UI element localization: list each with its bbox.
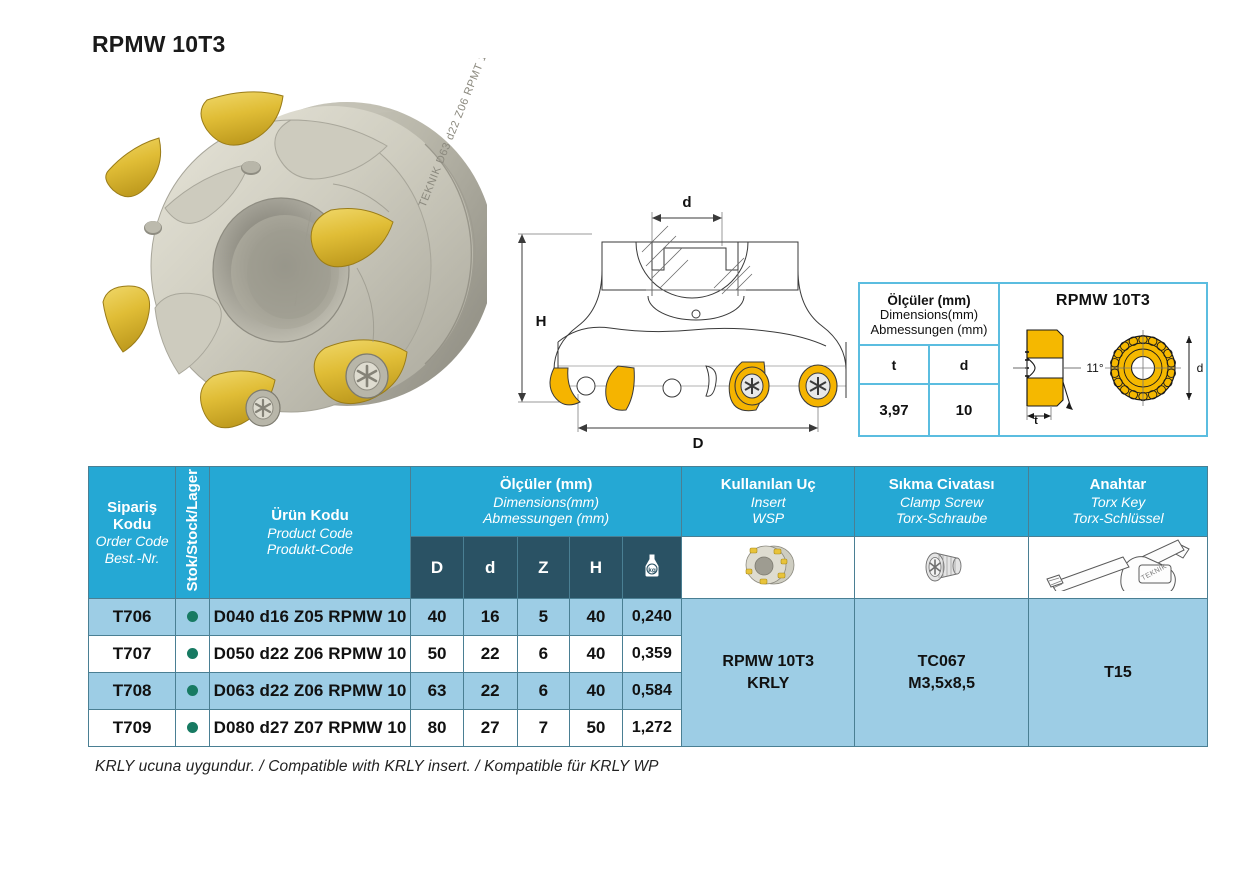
cell-product-code: D050 d22 Z06 RPMW 10 bbox=[209, 636, 410, 673]
cell-D: 50 bbox=[411, 636, 464, 673]
cell-torx-key-type: T15 bbox=[1028, 599, 1207, 747]
cell-product-code: D063 d22 Z06 RPMW 10 bbox=[209, 673, 410, 710]
header-dimensions: Ölçüler (mm) Dimensions(mm) Abmessungen … bbox=[411, 467, 682, 537]
cell-stock bbox=[176, 636, 210, 673]
dim-label-d-outer: D bbox=[693, 435, 704, 452]
cell-weight: 0,240 bbox=[622, 599, 681, 636]
cell-stock bbox=[176, 599, 210, 636]
header-order-code-en: Order Code bbox=[89, 533, 175, 550]
header-dimensions-tr: Ölçüler (mm) bbox=[411, 476, 681, 493]
insert-col-t: t bbox=[860, 346, 930, 383]
cell-H: 40 bbox=[570, 673, 623, 710]
header-order-code: Sipariş Kodu Order Code Best.-Nr. bbox=[89, 467, 176, 599]
technical-drawing: H d D bbox=[500, 190, 852, 455]
cell-order-code: T709 bbox=[89, 710, 176, 747]
insert-figure: t 11° bbox=[1003, 312, 1203, 429]
insert-dim-title-tr: Ölçüler (mm) bbox=[887, 293, 970, 308]
header-product-code-en: Product Code bbox=[210, 525, 410, 542]
stock-dot-icon bbox=[187, 611, 198, 622]
insert-thumbnail-cell bbox=[681, 537, 854, 599]
insert-dim-values: 3,97 10 bbox=[860, 385, 998, 435]
dim-label-d-bore: d bbox=[682, 194, 691, 211]
header-insert: Kullanılan Uç Insert WSP bbox=[681, 467, 854, 537]
header-insert-de: WSP bbox=[682, 510, 854, 527]
cell-D: 80 bbox=[411, 710, 464, 747]
cell-stock bbox=[176, 673, 210, 710]
cell-weight: 0,359 bbox=[622, 636, 681, 673]
header-order-code-tr: Sipariş Kodu bbox=[89, 499, 175, 534]
insert-dim-title-de: Abmessungen (mm) bbox=[870, 323, 987, 338]
footnote: KRLY ucuna uygundur. / Compatible with K… bbox=[95, 758, 659, 776]
header-product-code-tr: Ürün Kodu bbox=[210, 507, 410, 524]
header-clamp-screw: Sıkma Civatası Clamp Screw Torx-Schraube bbox=[855, 467, 1028, 537]
header-order-code-de: Best.-Nr. bbox=[89, 550, 175, 567]
header-clamp-screw-en: Clamp Screw bbox=[855, 494, 1027, 511]
cell-weight: 1,272 bbox=[622, 710, 681, 747]
cell-d: 16 bbox=[463, 599, 517, 636]
insert-dimension-table: Ölçüler (mm) Dimensions(mm) Abmessungen … bbox=[860, 284, 1000, 435]
header-stock: Stok/Stock/Lager bbox=[176, 467, 210, 599]
cell-Z: 6 bbox=[517, 673, 570, 710]
insert-spec-box: Ölçüler (mm) Dimensions(mm) Abmessungen … bbox=[858, 282, 1208, 437]
cell-weight: 0,584 bbox=[622, 673, 681, 710]
header-clamp-screw-de: Torx-Schraube bbox=[855, 510, 1027, 527]
insert-dim-title-en: Dimensions(mm) bbox=[880, 308, 978, 323]
insert-dim-columns: t d bbox=[860, 346, 998, 385]
insert-label-d: d bbox=[1197, 361, 1203, 375]
cell-Z: 5 bbox=[517, 599, 570, 636]
header-torx-key-de: Torx-Schlüssel bbox=[1029, 510, 1207, 527]
insert-figure-panel: RPMW 10T3 bbox=[1000, 284, 1206, 435]
header-product-code: Ürün Kodu Product Code Produkt-Code bbox=[209, 467, 410, 599]
stock-dot-icon bbox=[187, 685, 198, 696]
page-title: RPMW 10T3 bbox=[92, 31, 225, 58]
stock-dot-icon bbox=[187, 648, 198, 659]
insert-label-angle: 11° bbox=[1086, 361, 1103, 375]
cell-Z: 6 bbox=[517, 636, 570, 673]
insert-val-t: 3,97 bbox=[860, 385, 930, 435]
cell-d: 27 bbox=[463, 710, 517, 747]
torx-key-icon: TEKNIK bbox=[1043, 578, 1193, 595]
cell-stock bbox=[176, 710, 210, 747]
insert-col-d: d bbox=[930, 346, 998, 383]
cell-H: 40 bbox=[570, 636, 623, 673]
header-dimensions-en: Dimensions(mm) bbox=[411, 494, 681, 511]
insert-val-d: 10 bbox=[930, 385, 998, 435]
svg-text:kg: kg bbox=[648, 567, 656, 574]
clamp-screw-line2: M3,5x8,5 bbox=[908, 675, 975, 692]
cell-d: 22 bbox=[463, 636, 517, 673]
torx-key-thumbnail-cell: TEKNIK bbox=[1028, 537, 1207, 599]
header-torx-key-en: Torx Key bbox=[1029, 494, 1207, 511]
header-torx-key-tr: Anahtar bbox=[1029, 476, 1207, 493]
dim-label-h: H bbox=[536, 313, 547, 330]
torx-screw-icon bbox=[915, 574, 969, 591]
header-product-code-de: Produkt-Code bbox=[210, 541, 410, 558]
cell-product-code: D080 d27 Z07 RPMW 10 bbox=[209, 710, 410, 747]
cell-product-code: D040 d16 Z05 RPMW 10 bbox=[209, 599, 410, 636]
cell-d: 22 bbox=[463, 673, 517, 710]
cell-clamp-screw-type: TC067 M3,5x8,5 bbox=[855, 599, 1028, 747]
subheader-weight: kg bbox=[622, 537, 681, 599]
datasheet-page: RPMW 10T3 bbox=[0, 0, 1240, 874]
insert-type-line1: RPMW 10T3 bbox=[722, 653, 814, 670]
product-photo: TEKNIK D63 d22 Z06 RPMT 10T3 bbox=[95, 58, 487, 450]
subheader-D: D bbox=[411, 537, 464, 599]
cell-order-code: T706 bbox=[89, 599, 176, 636]
subheader-H: H bbox=[570, 537, 623, 599]
header-insert-en: Insert bbox=[682, 494, 854, 511]
insert-figure-title: RPMW 10T3 bbox=[1056, 292, 1150, 310]
insert-dimensions-header: Ölçüler (mm) Dimensions(mm) Abmessungen … bbox=[860, 284, 998, 346]
header-dimensions-de: Abmessungen (mm) bbox=[411, 510, 681, 527]
clamp-screw-line1: TC067 bbox=[918, 653, 966, 670]
header-insert-tr: Kullanılan Uç bbox=[682, 476, 854, 493]
header-clamp-screw-tr: Sıkma Civatası bbox=[855, 476, 1027, 493]
face-mill-insert-icon bbox=[738, 576, 798, 593]
subheader-Z: Z bbox=[517, 537, 570, 599]
subheader-d: d bbox=[463, 537, 517, 599]
product-table: Sipariş Kodu Order Code Best.-Nr. Stok/S… bbox=[88, 466, 1208, 747]
cell-insert-type: RPMW 10T3 KRLY bbox=[681, 599, 854, 747]
cell-order-code: T707 bbox=[89, 636, 176, 673]
cell-H: 40 bbox=[570, 599, 623, 636]
stock-dot-icon bbox=[187, 722, 198, 733]
cell-order-code: T708 bbox=[89, 673, 176, 710]
cell-H: 50 bbox=[570, 710, 623, 747]
cell-D: 40 bbox=[411, 599, 464, 636]
insert-type-line2: KRLY bbox=[747, 675, 789, 692]
header-stock-label: Stok/Stock/Lager bbox=[184, 469, 201, 592]
insert-label-t: t bbox=[1034, 415, 1038, 424]
table-row: T706 D040 d16 Z05 RPMW 10 40 16 5 40 0,2… bbox=[89, 599, 1208, 636]
header-torx-key: Anahtar Torx Key Torx-Schlüssel bbox=[1028, 467, 1207, 537]
clamp-screw-thumbnail-cell bbox=[855, 537, 1028, 599]
cell-D: 63 bbox=[411, 673, 464, 710]
weight-kg-icon: kg bbox=[642, 552, 662, 583]
cell-Z: 7 bbox=[517, 710, 570, 747]
